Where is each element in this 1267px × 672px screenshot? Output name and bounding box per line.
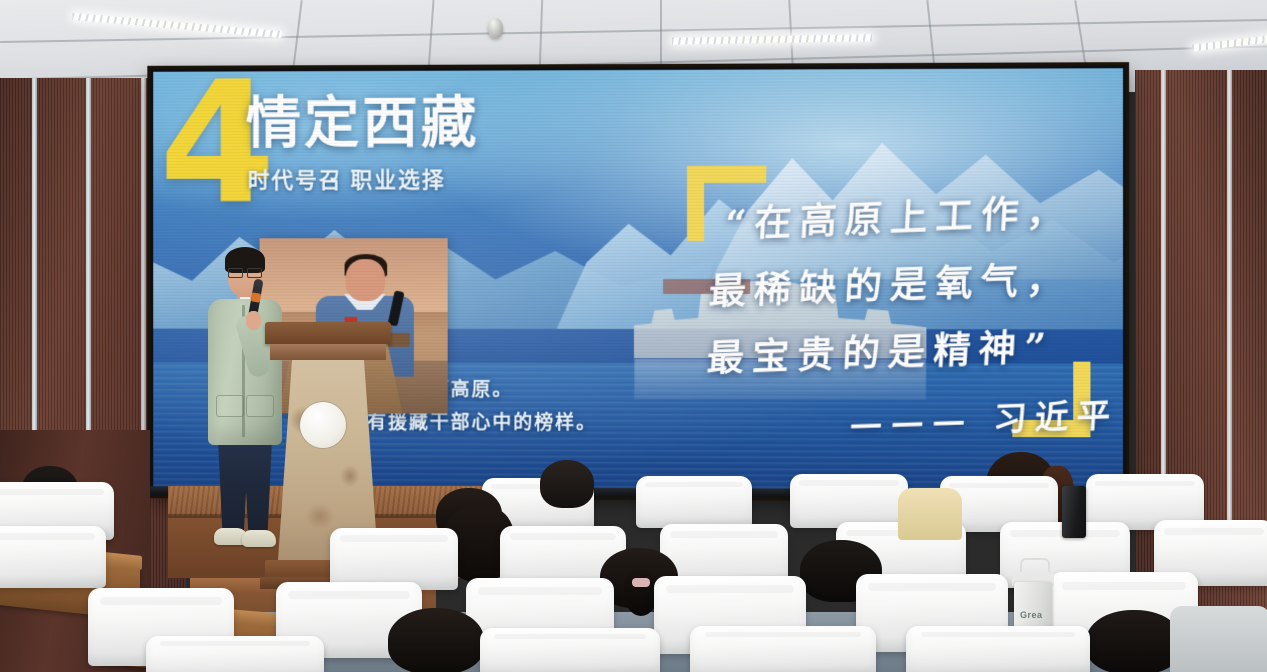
presenter-jacket-pocket-left — [216, 395, 244, 417]
ceiling-seam — [788, 0, 793, 66]
ceiling-seam — [1074, 0, 1088, 73]
ceiling-light — [672, 34, 872, 44]
lectern-lip — [270, 344, 386, 360]
ceiling-light — [72, 13, 282, 38]
chair-row4 — [690, 626, 876, 672]
chair-row1 — [636, 476, 752, 528]
presenter-jacket-pocket-right — [246, 395, 274, 417]
audience-jacket — [898, 488, 962, 540]
chair-row2 — [330, 528, 458, 590]
audience-area: Grea — [0, 430, 1267, 672]
audience-head — [388, 608, 484, 672]
inset-speaker-head — [346, 259, 386, 301]
ceiling-light — [1192, 31, 1267, 51]
hair-tie — [632, 578, 650, 587]
audience-head — [540, 460, 594, 508]
ceiling-seam — [291, 0, 302, 78]
smoke-detector-icon — [488, 18, 503, 38]
audience-hair — [624, 570, 658, 616]
glasses-icon — [228, 268, 262, 276]
lectern-desktop — [265, 322, 391, 344]
chair-row4 — [146, 636, 324, 672]
bottle-label-text: Grea — [1020, 610, 1043, 620]
chair-row1 — [0, 526, 106, 588]
slide-subtitle: 时代号召 职业选择 — [248, 162, 446, 194]
audience-shoulder — [1170, 606, 1267, 672]
slide-title: 情定西藏 — [246, 95, 480, 151]
ceiling-seam — [539, 0, 543, 68]
audience-head — [1086, 610, 1182, 672]
presenter-hand — [246, 311, 261, 330]
ceiling-seam — [926, 0, 935, 70]
slide-quote-line-3: 最宝贵的是精神” — [706, 316, 1056, 382]
chair-row4 — [906, 626, 1090, 672]
ceiling-seam — [660, 0, 662, 66]
chair-row4 — [480, 628, 660, 672]
screenshot-root: 4 情定西藏 时代号召 职业选择 “在高原上工作， 最稀缺的是氧气， 最宝贵的是… — [0, 0, 1267, 672]
ceiling-seam — [427, 0, 434, 72]
thermos — [1062, 486, 1086, 538]
chair-row1 — [790, 474, 908, 528]
